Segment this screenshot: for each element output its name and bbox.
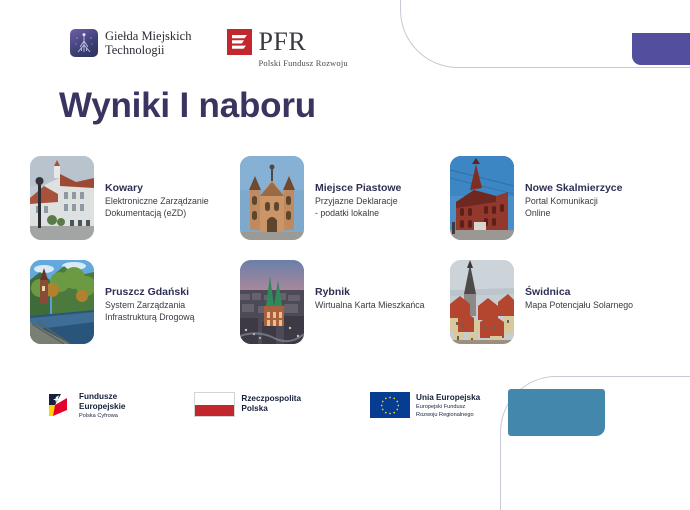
result-card-name: Nowe Skalmierzyce (525, 182, 622, 195)
miejsce-piastowe-church-photo (240, 156, 304, 240)
logo-fe-text: Fundusze Europejskie Polska Cyfrowa (79, 392, 125, 420)
logo-gmt-line1: Giełda Miejskich (105, 29, 191, 43)
logo-fe-line2: Europejskie (79, 402, 125, 411)
logo-eu-line2: Europejski Fundusz (416, 404, 480, 411)
slide-canvas: Giełda Miejskich Technologii PFR Po (0, 0, 690, 454)
logo-gmt-text: Giełda Miejskich Technologii (105, 29, 191, 57)
result-card[interactable]: Świdnica Mapa Potencjału Solarnego (450, 260, 670, 364)
result-card-desc: Przyjazne Deklaracje - podatki lokalne (315, 196, 401, 220)
logo-eu-line3: Rozwoju Regionalnego (416, 412, 480, 419)
result-card-name: Rybnik (315, 286, 425, 299)
decor-bottom-right-teal-block (508, 389, 605, 436)
result-card-desc: Wirtualna Karta Mieszkańca (315, 300, 425, 312)
logo-fundusze-europejskie: Fundusze Europejskie Polska Cyfrowa (47, 392, 125, 420)
flag-white-band (195, 393, 234, 405)
logo-unia-europejska: Unia Europejska Europejski Fundusz Rozwo… (370, 392, 480, 420)
result-card-name: Kowary (105, 182, 209, 195)
result-card[interactable]: Kowary Elektroniczne Zarządzanie Dokumen… (30, 156, 240, 260)
logo-eu-text: Unia Europejska Europejski Fundusz Rozwo… (416, 392, 480, 420)
pruszcz-gdanski-canal-photo (30, 260, 94, 344)
result-card[interactable]: Rybnik Wirtualna Karta Mieszkańca (240, 260, 450, 364)
decor-top-right-purple-block (632, 33, 690, 65)
result-card-desc: System Zarządzania Infrastrukturą Drogow… (105, 300, 194, 324)
pfr-icon (227, 29, 252, 55)
footer-logo-row: Fundusze Europejskie Polska Cyfrowa Rzec… (47, 392, 480, 420)
result-card-name: Pruszcz Gdański (105, 286, 194, 299)
kowary-townhall-photo (30, 156, 94, 240)
results-card-grid: Kowary Elektroniczne Zarządzanie Dokumen… (30, 156, 670, 364)
rybnik-aerial-photo (240, 260, 304, 344)
result-card-desc: Mapa Potencjału Solarnego (525, 300, 633, 312)
logo-pfr-subtitle: Polski Fundusz Rozwoju (258, 58, 347, 68)
eu-flag-icon (370, 392, 410, 418)
swidnica-rooftops-photo (450, 260, 514, 344)
header-logo-row: Giełda Miejskich Technologii PFR Po (70, 29, 348, 68)
result-card[interactable]: Pruszcz Gdański System Zarządzania Infra… (30, 260, 240, 364)
result-card-desc: Elektroniczne Zarządzanie Dokumentacją (… (105, 196, 209, 220)
result-card-name: Świdnica (525, 286, 633, 299)
gielda-miejskich-technologii-icon (70, 29, 98, 57)
result-card[interactable]: Miejsce Piastowe Przyjazne Deklaracje - … (240, 156, 450, 260)
logo-pfr-word: PFR (258, 29, 306, 55)
logo-pfr: PFR Polski Fundusz Rozwoju (227, 29, 347, 68)
flag-red-band (195, 405, 234, 417)
result-card-name: Miejsce Piastowe (315, 182, 401, 195)
logo-rp-line2: Polska (241, 404, 267, 413)
logo-gmt-line2: Technologii (105, 43, 191, 57)
result-card-desc: Portal Komunikacji Online (525, 196, 622, 220)
polish-flag-icon (194, 392, 235, 417)
result-card[interactable]: Nowe Skalmierzyce Portal Komunikacji Onl… (450, 156, 670, 260)
logo-rzeczpospolita-polska: Rzeczpospolita Polska (194, 392, 301, 417)
logo-eu-line1: Unia Europejska (416, 393, 480, 402)
logo-fe-line1: Fundusze (79, 392, 117, 401)
logo-rp-text: Rzeczpospolita Polska (241, 392, 301, 414)
page-title: Wyniki I naboru (59, 86, 316, 126)
logo-rp-line1: Rzeczpospolita (241, 394, 301, 403)
fundusze-europejskie-icon (47, 392, 73, 418)
logo-gielda-miejskich-technologii: Giełda Miejskich Technologii (70, 29, 191, 57)
nowe-skalmierzyce-townhall-photo (450, 156, 514, 240)
logo-fe-line3: Polska Cyfrowa (79, 413, 125, 420)
